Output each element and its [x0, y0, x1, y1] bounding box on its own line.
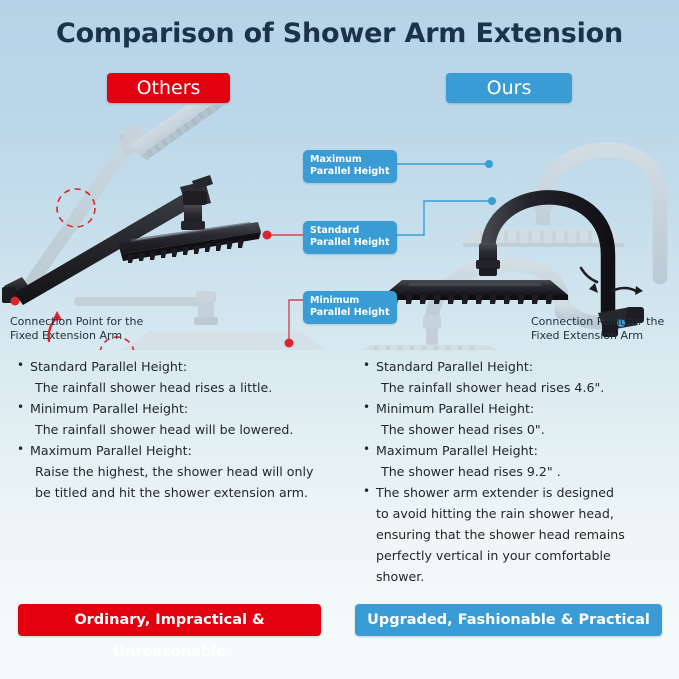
- callout-standard-line1: Standard: [310, 225, 390, 237]
- solid-arm-standard: [2, 175, 261, 305]
- bullet-heading: Maximum Parallel Height:: [376, 443, 538, 458]
- callout-standard-parallel-height: Standard Parallel Height: [303, 221, 397, 254]
- callout-minimum-line1: Minimum: [310, 295, 390, 307]
- callout-minimum-line2: Parallel Height: [310, 307, 390, 319]
- bullet-heading: Maximum Parallel Height:: [30, 443, 192, 458]
- callout-maximum-line1: Maximum: [310, 154, 390, 166]
- others-bullet-list: Standard Parallel Height: The rainfall s…: [16, 356, 336, 503]
- connection-point-label-right-line1: Connection Point for the: [531, 315, 664, 329]
- verdict-banner-ours: Upgraded, Fashionable & Practical: [355, 604, 662, 636]
- callout-minimum-parallel-height: Minimum Parallel Height: [303, 291, 397, 324]
- bullet-heading: Standard Parallel Height:: [376, 359, 533, 374]
- bullet-body: The rainfall shower head rises 4.6".: [376, 377, 672, 398]
- callout-maximum-parallel-height: Maximum Parallel Height: [303, 150, 397, 183]
- ours-badge: Ours: [446, 73, 572, 103]
- list-item: Standard Parallel Height: The rainfall s…: [362, 356, 672, 398]
- bullet-heading: Minimum Parallel Height:: [30, 401, 188, 416]
- list-item: Maximum Parallel Height: The shower head…: [362, 440, 672, 482]
- ours-bullet-list: Standard Parallel Height: The rainfall s…: [362, 356, 672, 587]
- bullet-body: The rainfall shower head will be lowered…: [30, 419, 336, 440]
- bullet-body: The shower head rises 0".: [376, 419, 672, 440]
- connection-point-label-left: Connection Point for the Fixed Extension…: [10, 315, 143, 342]
- callout-standard-line2: Parallel Height: [310, 237, 390, 249]
- infographic-canvas: Comparison of Shower Arm Extension Other…: [0, 0, 679, 679]
- verdict-banner-others: Ordinary, Impractical & Unreasonable: [18, 604, 321, 636]
- connection-point-label-left-line1: Connection Point for the: [10, 315, 143, 329]
- others-illustration: [0, 105, 340, 350]
- list-item: Standard Parallel Height: The rainfall s…: [16, 356, 336, 398]
- connection-point-label-right-line2: Fixed Extension Arm: [531, 329, 664, 343]
- list-item: Minimum Parallel Height: The shower head…: [362, 398, 672, 440]
- bullet-heading: Minimum Parallel Height:: [376, 401, 534, 416]
- callout-maximum-line2: Parallel Height: [310, 166, 390, 178]
- page-title: Comparison of Shower Arm Extension: [0, 18, 679, 49]
- list-item: Maximum Parallel Height: Raise the highe…: [16, 440, 336, 503]
- bullet-body: The rainfall shower head rises a little.: [30, 377, 336, 398]
- connection-point-label-right: Connection Point for the Fixed Extension…: [531, 315, 664, 342]
- bullet-heading: The shower arm extender is designedto av…: [376, 485, 625, 584]
- bullet-heading: Standard Parallel Height:: [30, 359, 187, 374]
- connection-point-label-left-line2: Fixed Extension Arm: [10, 329, 143, 343]
- others-badge: Others: [107, 73, 230, 103]
- bullet-body: The shower head rises 9.2" .: [376, 461, 672, 482]
- pivot-point-dot: [11, 297, 20, 306]
- bullet-body: Raise the highest, the shower head will …: [30, 461, 336, 503]
- list-item: The shower arm extender is designedto av…: [362, 482, 672, 587]
- list-item: Minimum Parallel Height: The rainfall sh…: [16, 398, 336, 440]
